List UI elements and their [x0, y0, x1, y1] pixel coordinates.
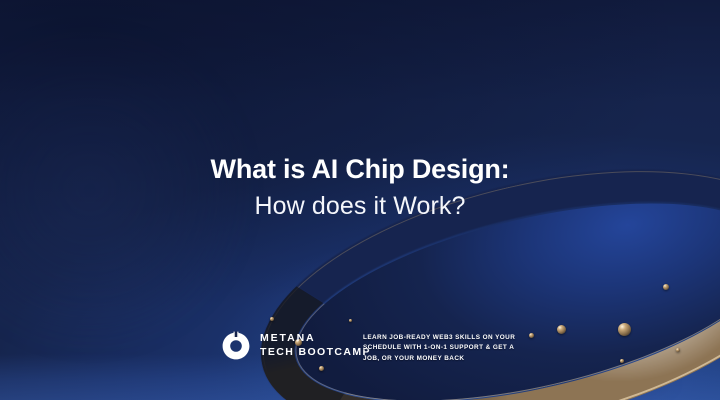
tagline-line-3: JOB, OR YOUR MONEY BACK — [363, 354, 515, 364]
brand-lockup[interactable]: METANA TECH BOOTCAMP — [221, 331, 371, 361]
hero-banner: What is AI Chip Design: How does it Work… — [0, 0, 720, 400]
metana-ring-icon — [221, 331, 251, 361]
gold-sphere — [618, 323, 631, 336]
tagline-line-2: SCHEDULE WITH 1-ON-1 SUPPORT & GET A — [363, 343, 515, 353]
tagline-line-1: LEARN JOB-READY WEB3 SKILLS ON YOUR — [363, 333, 515, 343]
title-line-1: What is AI Chip Design: — [0, 152, 720, 187]
gold-sphere — [557, 325, 566, 334]
gold-sphere — [620, 359, 624, 363]
brand-text: METANA TECH BOOTCAMP — [260, 333, 371, 358]
page-title: What is AI Chip Design: How does it Work… — [0, 152, 720, 223]
gold-sphere — [529, 333, 534, 338]
gold-sphere — [663, 284, 669, 290]
tagline: LEARN JOB-READY WEB3 SKILLS ON YOUR SCHE… — [363, 333, 515, 364]
gold-sphere — [270, 317, 274, 321]
title-line-2: How does it Work? — [0, 190, 720, 224]
brand-name: METANA — [260, 333, 371, 345]
gold-sphere — [676, 348, 680, 352]
gold-sphere — [319, 366, 324, 371]
gold-sphere — [349, 319, 352, 322]
brand-subtitle: TECH BOOTCAMP — [260, 347, 371, 359]
